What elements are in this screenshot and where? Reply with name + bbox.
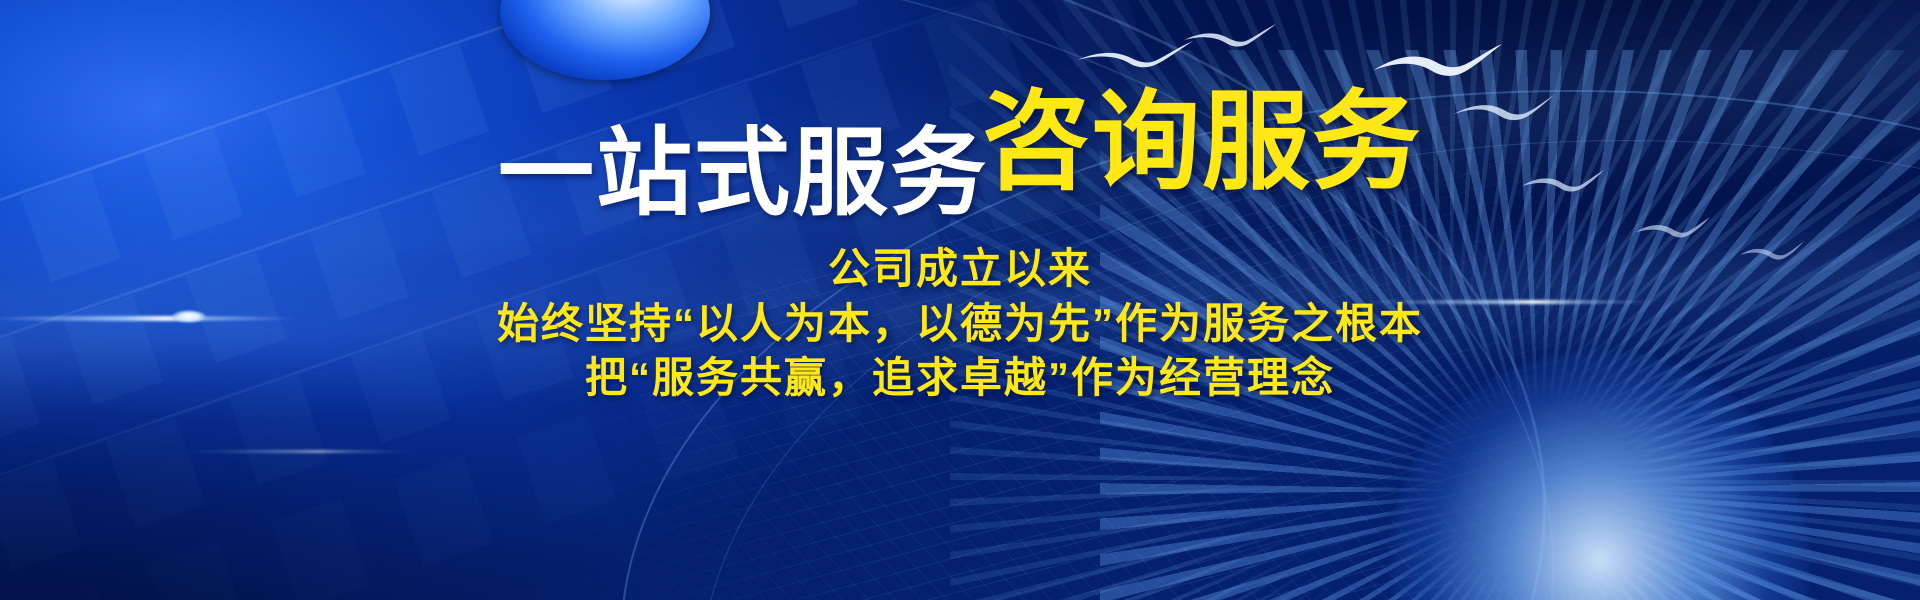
subtitle-block: 公司成立以来 始终坚持“以人为本，以德为先”作为服务之根本 把“服务共赢，追求卓… — [497, 242, 1423, 406]
headline-yellow-text: 咨询服务 — [982, 88, 1422, 196]
headline-white-text: 一站式服务 — [498, 126, 988, 222]
banner-content: 一站式服务 咨询服务 公司成立以来 始终坚持“以人为本，以德为先”作为服务之根本… — [0, 0, 1920, 600]
headline: 一站式服务 咨询服务 — [498, 88, 1422, 196]
subtitle-line-2: 始终坚持“以人为本，以德为先”作为服务之根本 — [497, 297, 1423, 352]
subtitle-line-1: 公司成立以来 — [497, 242, 1423, 297]
subtitle-line-3: 把“服务共赢，追求卓越”作为经营理念 — [497, 351, 1423, 406]
promo-banner: 一站式服务 咨询服务 公司成立以来 始终坚持“以人为本，以德为先”作为服务之根本… — [0, 0, 1920, 600]
